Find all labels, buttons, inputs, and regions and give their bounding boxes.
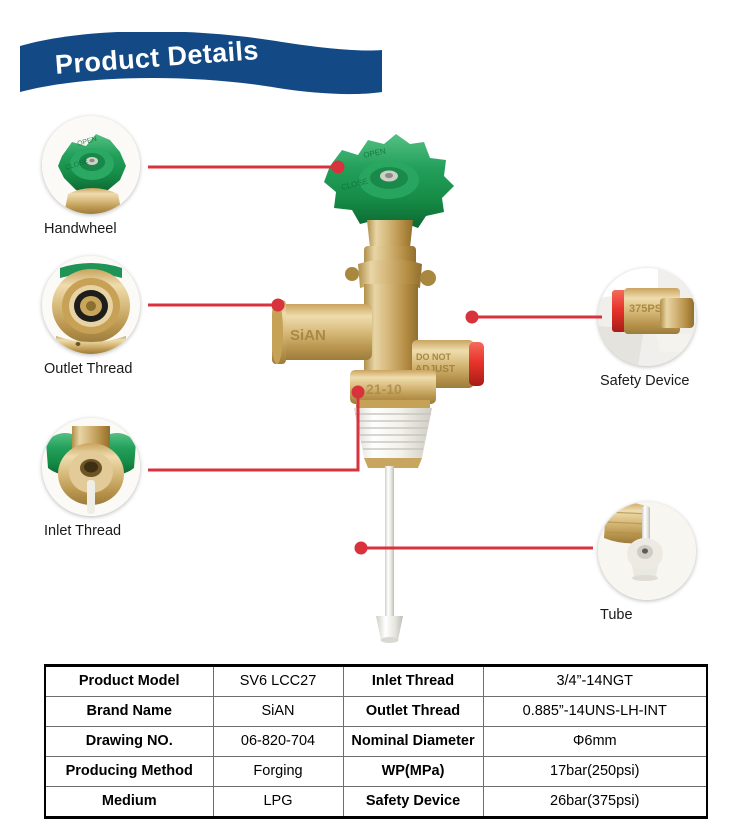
spec-key: Producing Method	[45, 757, 213, 787]
callout-inlet-thread: Inlet Thread	[42, 418, 140, 539]
callout-safety-device: 375PSI Safety Device	[598, 268, 696, 389]
spec-key: WP(MPa)	[343, 757, 483, 787]
spec-key: Inlet Thread	[343, 666, 483, 697]
table-row: Product Model SV6 LCC27 Inlet Thread 3/4…	[45, 666, 707, 697]
spec-key: Outlet Thread	[343, 697, 483, 727]
connector-tube	[355, 541, 603, 555]
product-details-page: Product Details	[0, 0, 750, 839]
specification-table-body: Product Model SV6 LCC27 Inlet Thread 3/4…	[45, 666, 707, 818]
spec-key: Drawing NO.	[45, 727, 213, 757]
table-row: Drawing NO. 06-820-704 Nominal Diameter …	[45, 727, 707, 757]
spec-value: 3/4”-14NGT	[483, 666, 707, 697]
spec-key: Safety Device	[343, 787, 483, 818]
safety-device-detail-photo: 375PSI	[598, 268, 696, 366]
outlet-thread-detail-photo	[42, 256, 140, 354]
spec-key: Nominal Diameter	[343, 727, 483, 757]
callout-outlet-thread: Outlet Thread	[42, 256, 140, 377]
spec-key: Medium	[45, 787, 213, 818]
safety-pressure-mark: 375PSI	[629, 303, 665, 315]
spec-value: Forging	[213, 757, 343, 787]
table-row: Producing Method Forging WP(MPa) 17bar(2…	[45, 757, 707, 787]
connector-inlet-thread	[148, 386, 368, 478]
spec-key: Brand Name	[45, 697, 213, 727]
valve-handwheel: OPEN CLOSE	[324, 134, 454, 230]
callout-label-outlet-thread: Outlet Thread	[44, 361, 140, 377]
safety-red-plug-detail	[612, 290, 626, 332]
handwheel-detail-photo: OPEN CLOSE	[42, 116, 140, 214]
specification-table: Product Model SV6 LCC27 Inlet Thread 3/4…	[44, 664, 708, 819]
spec-value: Φ6mm	[483, 727, 707, 757]
spec-value: 0.885”-14UNS-LH-INT	[483, 697, 707, 727]
spec-value: LPG	[213, 787, 343, 818]
callout-label-handwheel: Handwheel	[44, 221, 140, 237]
spec-value: SiAN	[213, 697, 343, 727]
body-warning-mark-line1: DO NOT	[416, 352, 452, 362]
connector-handwheel	[148, 160, 348, 174]
callout-handwheel: OPEN CLOSE Handwheel	[42, 116, 140, 237]
spec-value: SV6 LCC27	[213, 666, 343, 697]
page-header-banner: Product Details	[20, 32, 400, 110]
connector-safety-device	[466, 310, 602, 324]
spec-value: 26bar(375psi)	[483, 787, 707, 818]
body-date-code-mark: 21-10	[366, 381, 402, 397]
connector-outlet-thread	[148, 298, 288, 312]
inlet-thread-detail-photo	[42, 418, 140, 516]
table-row: Brand Name SiAN Outlet Thread 0.885”-14U…	[45, 697, 707, 727]
tube-detail-photo	[598, 502, 696, 600]
callout-label-inlet-thread: Inlet Thread	[44, 523, 140, 539]
body-brand-mark: SiAN	[290, 327, 326, 344]
callout-tube: Tube	[598, 502, 696, 623]
callout-label-tube: Tube	[600, 607, 696, 623]
safety-red-plug	[469, 342, 484, 386]
spec-value: 17bar(250psi)	[483, 757, 707, 787]
specification-table-container: Product Model SV6 LCC27 Inlet Thread 3/4…	[44, 664, 706, 819]
spec-key: Product Model	[45, 666, 213, 697]
spec-value: 06-820-704	[213, 727, 343, 757]
table-row: Medium LPG Safety Device 26bar(375psi)	[45, 787, 707, 818]
callout-label-safety-device: Safety Device	[600, 373, 696, 389]
